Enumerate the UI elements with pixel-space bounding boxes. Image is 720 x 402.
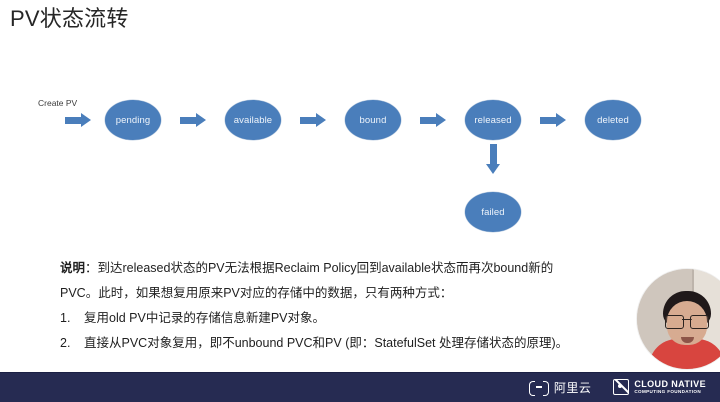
arrow-shaft [180,117,197,124]
list-item-text: 直接从PVC对象复用，即不unbound PVC和PV (即：StatefulS… [84,331,568,356]
list-item-marker: 2. [60,331,84,356]
bracket-dash [536,386,542,388]
arrow-head [436,113,446,127]
state-node-failed[interactable]: failed [465,192,521,232]
cncf-logo: CLOUD NATIVE COMPUTING FOUNDATION [613,379,706,395]
bracket-right [543,381,549,396]
alibaba-cloud-wordmark: 阿里云 [554,379,592,396]
arrow-released-to-failed [486,144,500,174]
cncf-wordmark-line1: CLOUD NATIVE [634,380,706,389]
list-item: 1. 复用old PV中记录的存储信息新建PV对象。 [60,306,635,331]
arrow-available-to-bound [300,113,326,127]
list-item-text: 复用old PV中记录的存储信息新建PV对象。 [84,306,325,331]
arrow-released-to-deleted [540,113,566,127]
notes-lead-label: 说明 [60,261,85,275]
notes-paragraph-line1: 说明：到达released状态的PV无法根据Reclaim Policy回到av… [60,256,635,281]
state-node-available[interactable]: available [225,100,281,140]
state-node-pending[interactable]: pending [105,100,161,140]
presentation-slide: PV状态流转 Create PV pending available bound… [0,0,720,402]
arrow-head [556,113,566,127]
notes-list: 1. 复用old PV中记录的存储信息新建PV对象。 2. 直接从PVC对象复用… [60,306,635,356]
notes-block: 说明：到达released状态的PV无法根据Reclaim Policy回到av… [60,256,635,356]
state-node-released[interactable]: released [465,100,521,140]
cncf-wordmark-line2: COMPUTING FOUNDATION [634,390,706,395]
footer-divider [0,372,720,373]
alibaba-cloud-mark-icon [529,381,549,394]
arrow-bound-to-released [420,113,446,127]
footer-bar: 阿里云 CLOUD NATIVE COMPUTING FOUNDATION [0,372,720,402]
arrow-head [486,164,500,174]
cncf-mark-icon [613,379,629,395]
arrow-head [316,113,326,127]
pv-state-flow-diagram: Create PV pending available bound releas… [0,60,720,250]
arrow-shaft [300,117,317,124]
edge-label-create-pv: Create PV [38,98,77,108]
state-node-bound[interactable]: bound [345,100,401,140]
arrow-shaft [65,117,82,124]
list-item: 2. 直接从PVC对象复用，即不unbound PVC和PV (即：Statef… [60,331,635,356]
arrow-head [81,113,91,127]
glasses-lens-left [665,315,684,329]
presenter-webcam-overlay[interactable] [637,269,720,369]
notes-paragraph-line1-text: ：到达released状态的PV无法根据Reclaim Policy回到avai… [85,261,553,275]
cncf-wordmark: CLOUD NATIVE COMPUTING FOUNDATION [634,380,706,395]
arrow-shaft [490,144,497,165]
glasses-icon [665,315,709,327]
state-node-deleted[interactable]: deleted [585,100,641,140]
arrow-head [196,113,206,127]
alibaba-cloud-logo: 阿里云 [529,379,592,396]
list-item-marker: 1. [60,306,84,331]
cncf-slash [615,379,630,393]
notes-paragraph-line2: PVC。此时，如果想复用原来PV对应的存储中的数据，只有两种方式： [60,281,635,306]
arrow-start-to-pending [65,113,91,127]
bracket-left [529,381,535,396]
arrow-pending-to-available [180,113,206,127]
glasses-lens-right [690,315,709,329]
arrow-shaft [420,117,437,124]
arrow-shaft [540,117,557,124]
page-title: PV状态流转 [10,5,129,33]
